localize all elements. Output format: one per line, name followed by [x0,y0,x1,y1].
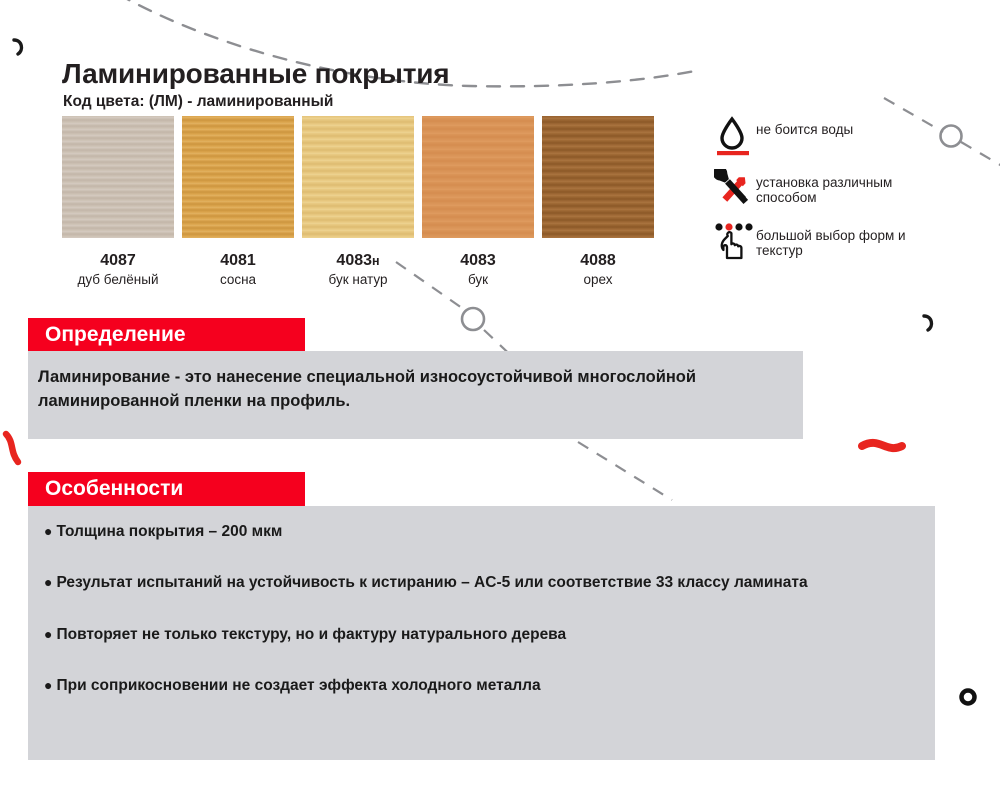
swatch-name: бук [422,272,534,288]
swatch-name: бук натур [302,272,414,288]
swatch-code: 4088 [542,252,654,270]
swatch-item[interactable]: 4083 бук [422,116,534,289]
swatch-chip-4081[interactable] [182,116,294,238]
swatch-name: орех [542,272,654,288]
swatch-item[interactable]: 4083н бук натур [302,116,414,289]
swatch-item[interactable]: 4088 орех [542,116,654,289]
bullet-marker: ● [44,523,56,539]
bullet-marker: ● [44,677,56,693]
dashed-line-right-2 [961,142,1000,166]
characteristics-bullet-list: ●Толщина покрытия – 200 мкм ●Результат и… [44,520,924,725]
ring-mark-bottomright [962,691,975,704]
tools-icon [714,169,756,209]
bullet-text: Толщина покрытия – 200 мкм [56,523,282,540]
characteristics-heading: Особенности [28,472,305,506]
dashed-line-mid-3 [578,442,672,500]
swatch-name: дуб белёный [62,272,174,288]
swatch-name: сосна [182,272,294,288]
swatch-code: 4083 [422,252,534,270]
feature-label: большой выбор форм и текстур [756,222,954,258]
swatch-chip-4087[interactable] [62,116,174,238]
feature-item-tools: установка различным способом [714,169,954,209]
water-drop-icon [714,116,756,156]
hand-pointer-icon [714,222,756,262]
swatch-item[interactable]: 4081 сосна [182,116,294,289]
feature-label: не боится воды [756,116,853,137]
page-subtitle: Код цвета: (ЛМ) - ламинированный [63,93,333,111]
bullet-item: ●Результат испытаний на устойчивость к и… [44,571,924,594]
swatch-chip-4083[interactable] [422,116,534,238]
bullet-text: При соприкосновении не создает эффекта х… [56,677,540,694]
bullet-item: ●Повторяет не только текстуру, но и факт… [44,623,924,646]
bullet-text: Результат испытаний на устойчивость к ис… [56,574,807,591]
swatch-code: 4083н [302,252,414,270]
bullet-marker: ● [44,574,56,590]
feature-label: установка различным способом [756,169,954,205]
bullet-text: Повторяет не только текстуру, но и факту… [56,626,566,643]
swatch-chip-4083n[interactable] [302,116,414,238]
bullet-marker: ● [44,626,56,642]
swatch-code: 4087 [62,252,174,270]
swatch-item[interactable]: 4087 дуб белёный [62,116,174,289]
feature-item-variety: большой выбор форм и текстур [714,222,954,262]
ring-node-mid [462,308,484,330]
comma-mark-topleft [14,40,21,54]
red-squiggle-right [862,443,902,448]
definition-heading: Определение [28,318,305,351]
feature-list: не боится воды установка различным спосо… [714,116,954,275]
bullet-item: ●Толщина покрытия – 200 мкм [44,520,924,543]
feature-item-water: не боится воды [714,116,954,156]
swatch-chip-4088[interactable] [542,116,654,238]
comma-mark-right [924,316,931,330]
red-squiggle-left [6,434,18,462]
bullet-item: ●При соприкосновении не создает эффекта … [44,674,924,697]
definition-text: Ламинирование - это нанесение специально… [38,366,738,414]
page-title: Ламинированные покрытия [62,58,449,90]
color-swatch-row: 4087 дуб белёный 4081 сосна 4083н бук на… [62,116,654,289]
swatch-code: 4081 [182,252,294,270]
